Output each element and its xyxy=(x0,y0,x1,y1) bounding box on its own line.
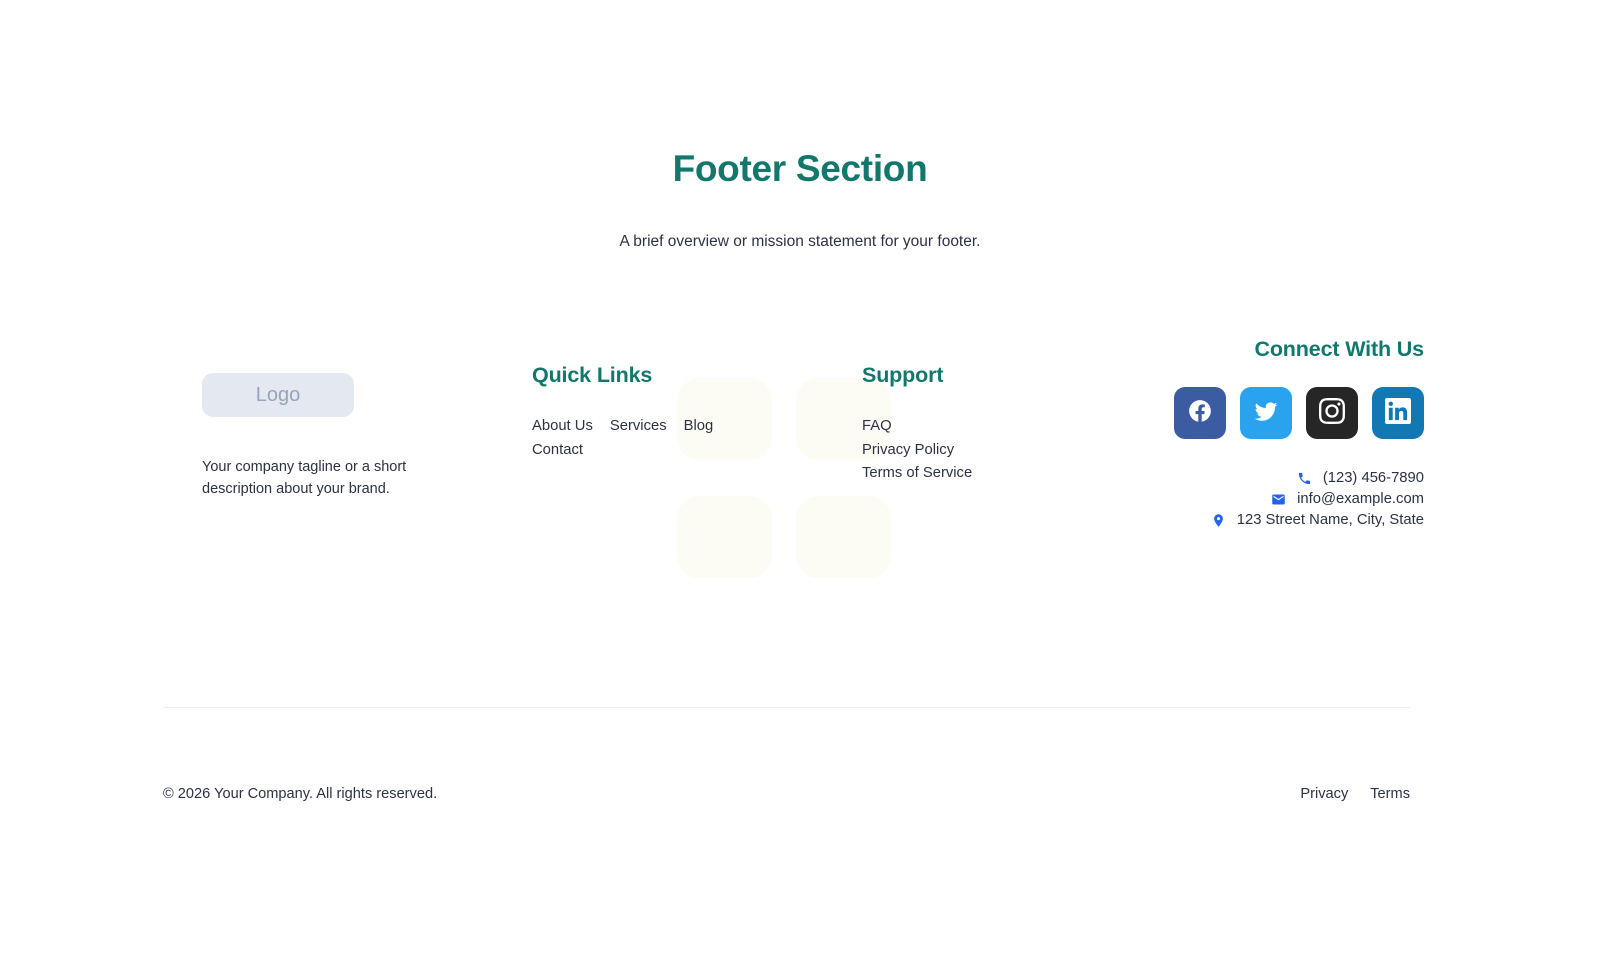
social-instagram-button[interactable] xyxy=(1306,387,1358,439)
footer-divider xyxy=(163,707,1410,708)
legal-links: Privacy Terms xyxy=(1300,786,1410,802)
footer-bottom-bar: © 2026 Your Company. All rights reserved… xyxy=(163,786,1410,802)
social-facebook-button[interactable] xyxy=(1174,387,1226,439)
link-terms[interactable]: Terms xyxy=(1370,786,1410,802)
link-about-us[interactable]: About Us xyxy=(532,416,593,437)
facebook-icon xyxy=(1187,398,1213,429)
link-privacy[interactable]: Privacy xyxy=(1300,786,1348,802)
column-connect: Connect With Us xyxy=(1162,337,1424,528)
link-blog[interactable]: Blog xyxy=(684,416,714,437)
contact-address[interactable]: 123 Street Name, City, State xyxy=(1210,512,1424,528)
support-heading: Support xyxy=(862,363,1162,388)
contact-phone-value: (123) 456-7890 xyxy=(1323,470,1424,486)
footer-header: Footer Section A brief overview or missi… xyxy=(0,0,1600,253)
support-links-list: FAQ Privacy Policy Terms of Service xyxy=(862,416,1012,484)
footer-page: Footer Section A brief overview or missi… xyxy=(0,0,1600,978)
instagram-icon xyxy=(1319,398,1345,429)
logo-placeholder[interactable]: Logo xyxy=(202,373,354,417)
connect-heading: Connect With Us xyxy=(1162,337,1424,362)
column-support: Support FAQ Privacy Policy Terms of Serv… xyxy=(862,337,1162,484)
social-twitter-button[interactable] xyxy=(1240,387,1292,439)
contact-email-value: info@example.com xyxy=(1297,491,1424,507)
column-brand: Logo Your company tagline or a short des… xyxy=(202,337,532,499)
quick-links-list: About Us Services Blog Contact xyxy=(532,416,732,461)
contact-phone[interactable]: (123) 456-7890 xyxy=(1296,470,1424,486)
link-faq[interactable]: FAQ xyxy=(862,416,892,437)
link-terms-of-service[interactable]: Terms of Service xyxy=(862,463,972,484)
brand-tagline: Your company tagline or a short descript… xyxy=(202,457,427,499)
twitter-icon xyxy=(1253,398,1279,429)
quick-links-heading: Quick Links xyxy=(532,363,862,388)
link-contact[interactable]: Contact xyxy=(532,440,583,461)
copyright-text: © 2026 Your Company. All rights reserved… xyxy=(163,786,437,802)
logo-label: Logo xyxy=(256,384,301,407)
phone-icon xyxy=(1296,471,1313,486)
social-linkedin-button[interactable] xyxy=(1372,387,1424,439)
contact-email[interactable]: info@example.com xyxy=(1270,491,1424,507)
link-privacy-policy[interactable]: Privacy Policy xyxy=(862,440,954,461)
page-title: Footer Section xyxy=(0,146,1600,191)
contact-info-list: (123) 456-7890 info@example.com 123 Stre… xyxy=(1162,470,1424,528)
envelope-icon xyxy=(1270,492,1287,507)
location-pin-icon xyxy=(1210,513,1227,528)
link-services[interactable]: Services xyxy=(610,416,667,437)
contact-address-value: 123 Street Name, City, State xyxy=(1237,512,1424,528)
footer-columns: Logo Your company tagline or a short des… xyxy=(176,337,1424,528)
page-subtitle: A brief overview or mission statement fo… xyxy=(0,230,1600,253)
social-links-row xyxy=(1162,387,1424,439)
column-quick-links: Quick Links About Us Services Blog Conta… xyxy=(532,337,862,461)
linkedin-icon xyxy=(1385,398,1411,429)
